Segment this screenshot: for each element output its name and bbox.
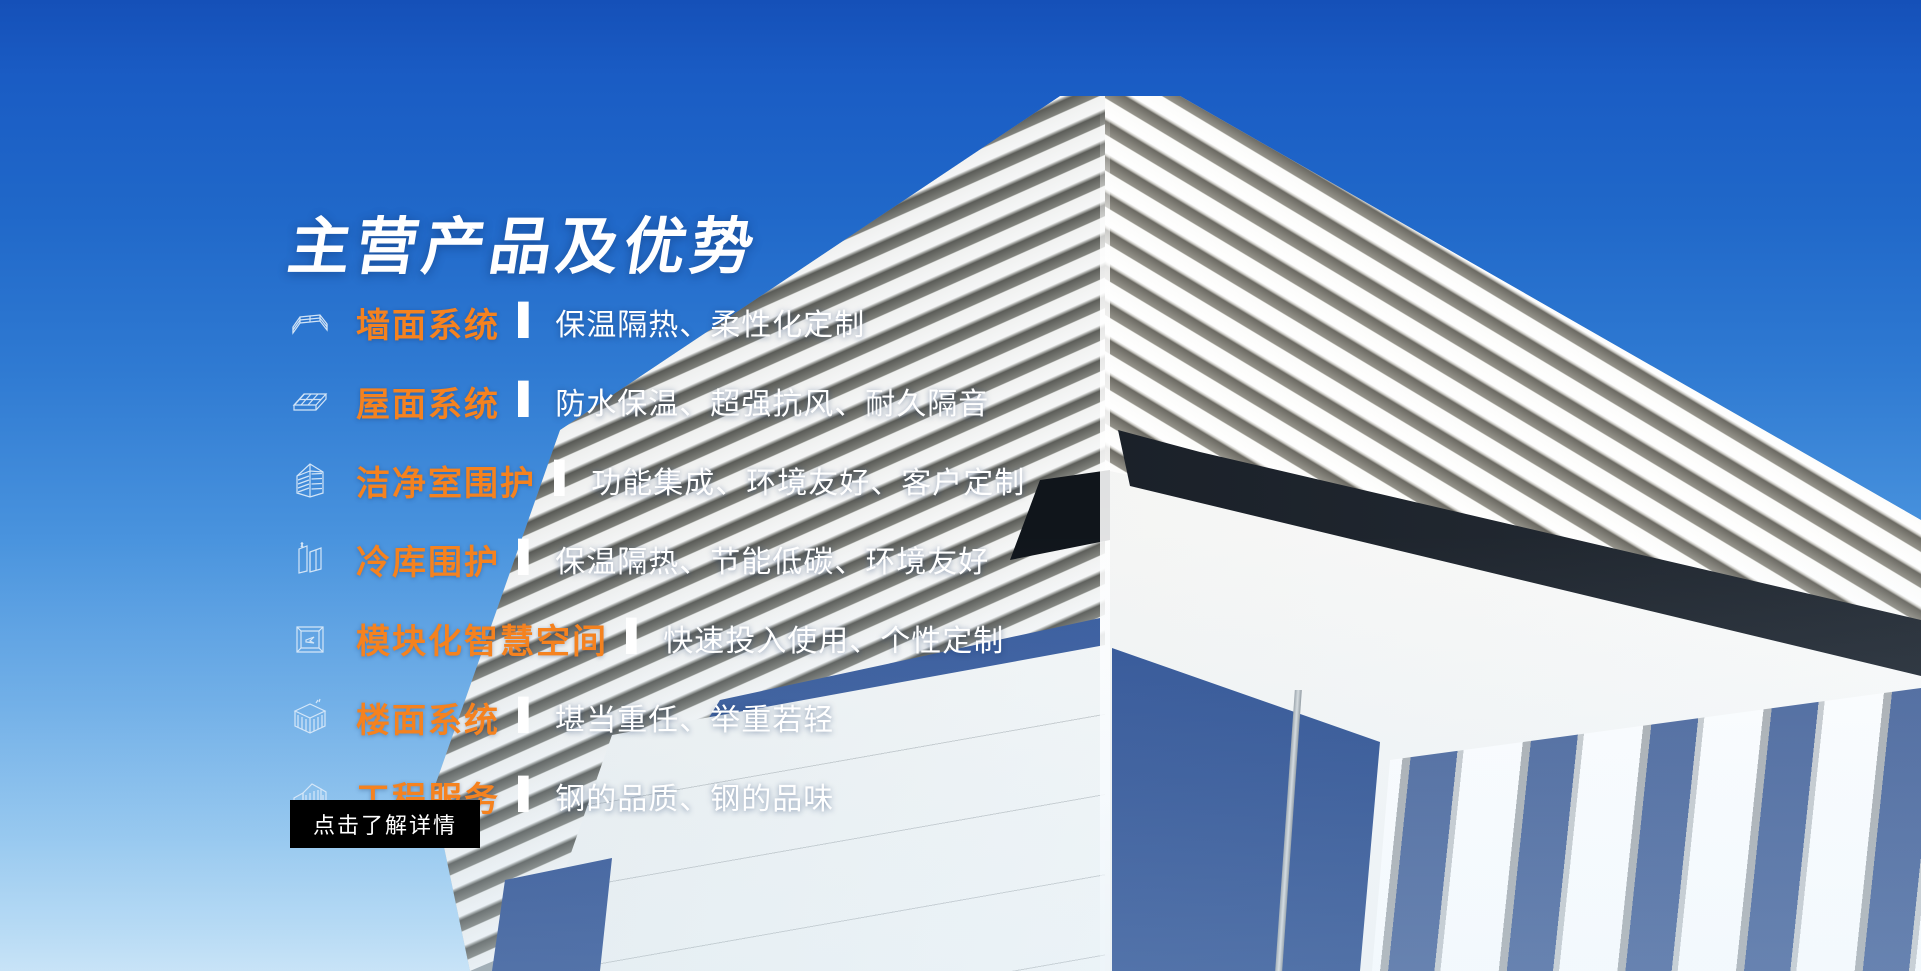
product-title: 冷库围护 [356,535,500,584]
hero-banner: 主营产品及优势 墙面系统 ▌ 保温隔热、柔性化定制 [0,0,1921,971]
product-list: 墙面系统 ▌ 保温隔热、柔性化定制 屋面系统 ▌ 防水保温、超强抗风、耐久隔音 [290,298,1025,851]
product-title: 模块化智慧空间 [356,614,608,663]
separator: ▌ [554,463,575,493]
cleanroom-building-icon [290,460,330,500]
separator: ▌ [626,621,647,651]
cold-storage-icon [290,539,330,579]
separator: ▌ [518,305,539,335]
list-item[interactable]: 楼面系统 ▌ 堪当重任、举重若轻 [290,693,1025,741]
product-description: 堪当重任、举重若轻 [555,695,834,739]
product-description: 快速投入使用、个性定制 [663,616,1004,660]
product-description: 防水保温、超强抗风、耐久隔音 [555,379,989,423]
list-item[interactable]: 冷库围护 ▌ 保温隔热、节能低碳、环境友好 [290,535,1025,583]
product-description: 功能集成、环境友好、客户定制 [591,458,1025,502]
page-title: 主营产品及优势 [283,196,766,286]
product-title: 楼面系统 [356,693,500,742]
separator: ▌ [518,700,539,730]
list-item[interactable]: 洁净室围护 ▌ 功能集成、环境友好、客户定制 [290,456,1025,504]
learn-more-button[interactable]: 点击了解详情 [290,800,480,848]
list-item[interactable]: 墙面系统 ▌ 保温隔热、柔性化定制 [290,298,1025,346]
product-description: 保温隔热、柔性化定制 [555,300,865,344]
floor-deck-icon [290,697,330,737]
list-item[interactable]: 模块化智慧空间 ▌ 快速投入使用、个性定制 [290,614,1025,662]
product-title: 墙面系统 [356,298,500,347]
list-item[interactable]: 屋面系统 ▌ 防水保温、超强抗风、耐久隔音 [290,377,1025,425]
wall-panel-icon [290,302,330,342]
separator: ▌ [518,384,539,414]
product-description: 保温隔热、节能低碳、环境友好 [555,537,989,581]
separator: ▌ [518,542,539,572]
hero-content: 主营产品及优势 墙面系统 ▌ 保温隔热、柔性化定制 [0,0,1921,971]
product-title: 屋面系统 [356,377,500,426]
separator: ▌ [518,779,539,809]
modular-cube-icon [290,618,330,658]
product-title: 洁净室围护 [356,456,536,505]
roof-panel-icon [290,381,330,421]
product-description: 钢的品质、钢的品味 [555,774,834,818]
